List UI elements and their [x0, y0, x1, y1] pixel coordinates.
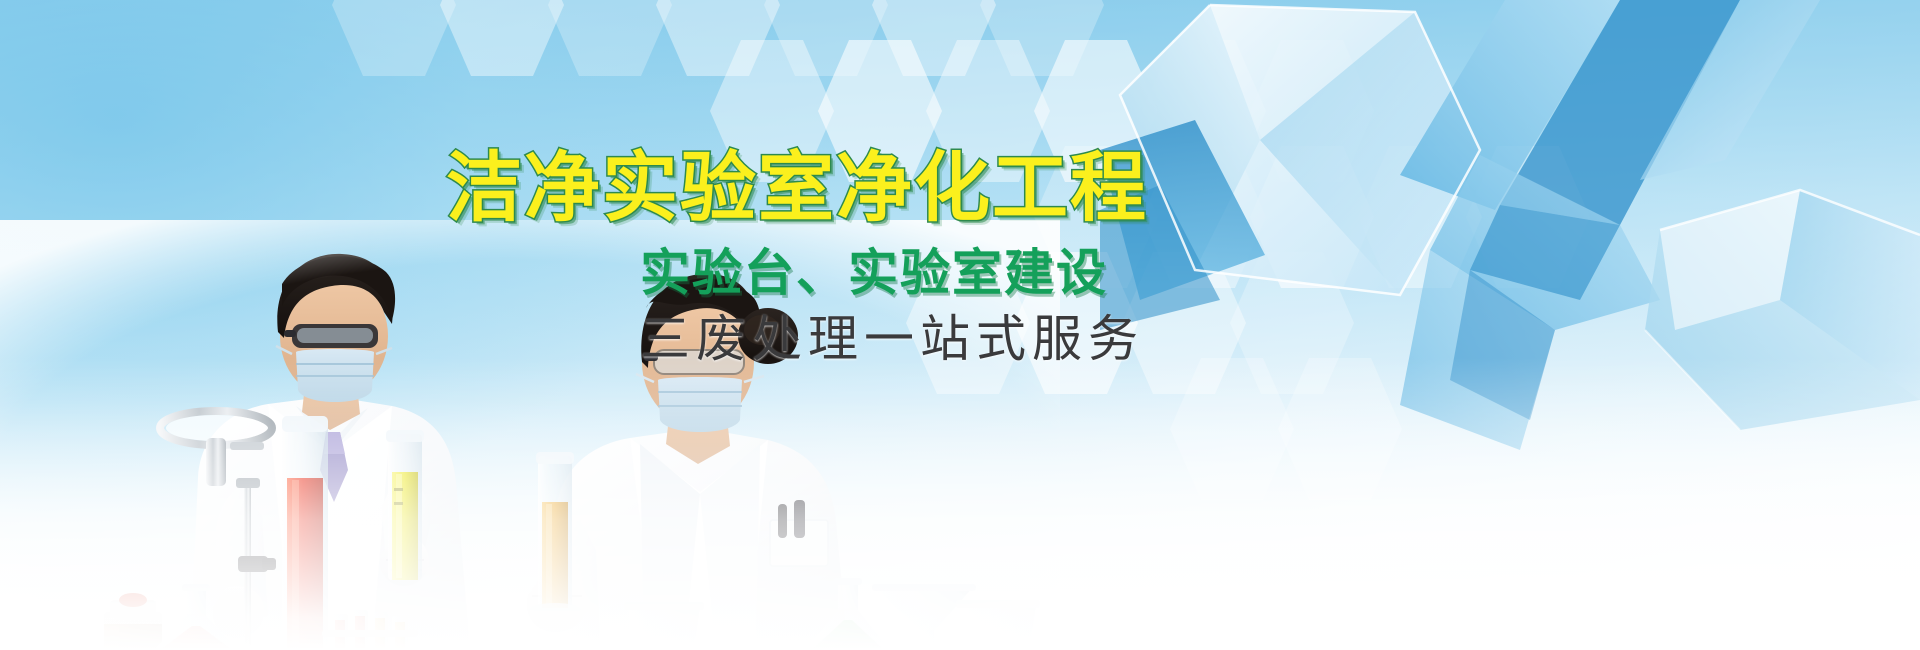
- headline-subtitle: 实验台、实验室建设: [640, 248, 1200, 298]
- page-title: 洁净实验室净化工程: [446, 150, 1200, 226]
- promotional-banner: 洁净实验室净化工程 实验台、实验室建设 三废处理一站式服务: [0, 0, 1920, 650]
- headline-block: 洁净实验室净化工程 实验台、实验室建设 三废处理一站式服务: [440, 150, 1200, 364]
- headline-tagline: 三废处理一站式服务: [640, 314, 1200, 364]
- crystal-facet-pattern: [1100, 0, 1920, 480]
